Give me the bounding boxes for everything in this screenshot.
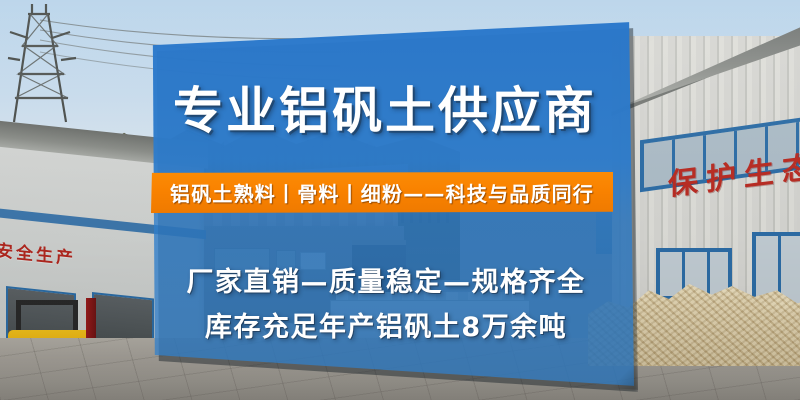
promotional-banner: 安全生产 保护生态 专业铝矾土供应商: [0, 0, 800, 400]
subline-secondary: 库存充足年产铝矾土8万余吨: [151, 305, 621, 344]
subline-primary: 厂家直销—质量稳定—规格齐全: [151, 260, 621, 299]
headline: 专业铝矾土供应商: [0, 82, 770, 140]
banner-content: 专业铝矾土供应商 铝矾土熟料丨骨料丨细粉——科技与品质同行 厂家直销—质量稳定—…: [0, 0, 800, 400]
tagline-bar-text: 铝矾土熟料丨骨料丨细粉——科技与品质同行: [151, 172, 613, 213]
